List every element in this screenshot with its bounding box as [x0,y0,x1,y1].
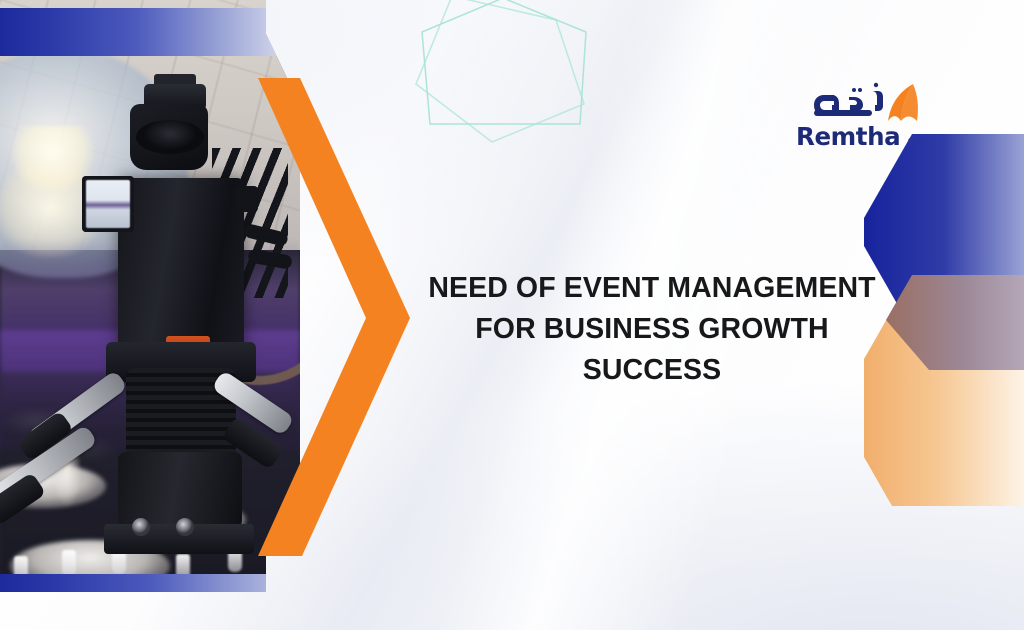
headline-line-3: SUCCESS [406,350,898,391]
remtha-logo[interactable]: Remtha ® [790,80,922,156]
headline-line-2: FOR BUSINESS GROWTH [406,309,898,350]
orange-chevron [240,72,412,562]
tripod-knob [132,518,150,536]
registered-trademark-icon: ® [908,136,915,146]
headline-line-1: NEED OF EVENT MANAGEMENT [406,268,898,309]
logo-arabic-wordmark-icon [796,81,922,127]
page-title: NEED OF EVENT MANAGEMENT FOR BUSINESS GR… [406,268,898,391]
tripod-knob [176,518,194,536]
blog-banner: NEED OF EVENT MANAGEMENT FOR BUSINESS GR… [0,0,1024,630]
logo-latin-wordmark: Remtha [796,122,922,151]
camera-eyecup [136,120,204,154]
camera-lcd-screen [86,180,130,228]
